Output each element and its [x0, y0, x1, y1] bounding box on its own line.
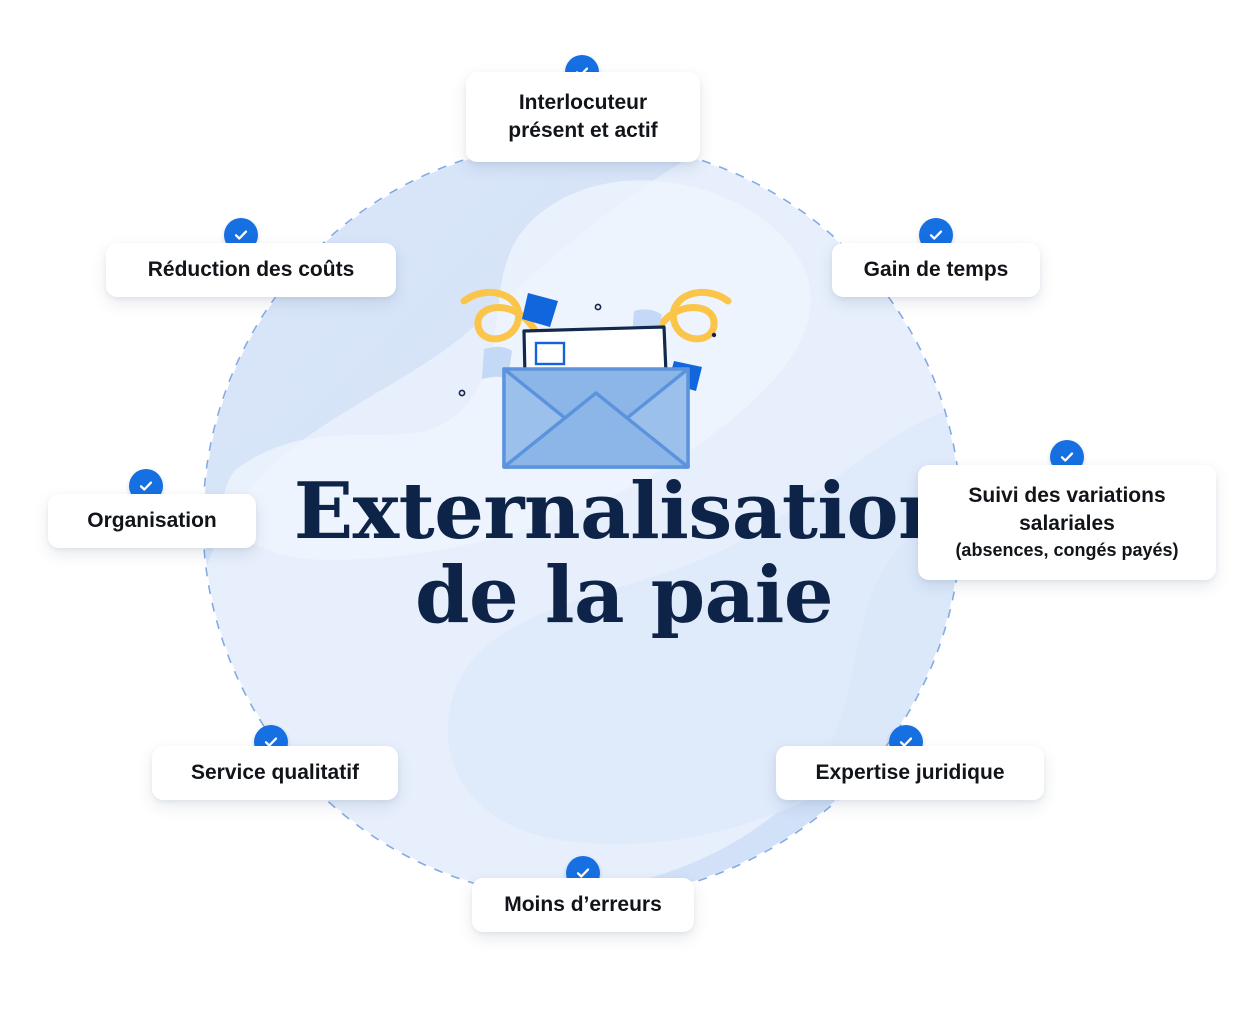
benefit-label-line: salariales	[1019, 510, 1115, 538]
infographic-canvas: Externalisation de la paie Interlocuteur…	[0, 0, 1248, 1022]
page-title: Externalisation de la paie	[224, 470, 1024, 638]
check-icon	[1058, 448, 1076, 466]
benefit-label-line: présent et actif	[508, 117, 657, 145]
benefit-chip-organisation[interactable]: Organisation	[48, 494, 256, 548]
check-icon	[232, 226, 250, 244]
check-icon	[137, 477, 155, 495]
benefit-label-line: Gain de temps	[864, 256, 1009, 284]
benefit-label-sub: (absences, congés payés)	[955, 538, 1178, 563]
benefit-chip-moins-erreurs[interactable]: Moins d’erreurs	[472, 878, 694, 932]
benefit-chip-suivi-variations[interactable]: Suivi des variations salariales (absence…	[918, 465, 1216, 580]
check-icon	[927, 226, 945, 244]
benefit-label-line: Suivi des variations	[968, 482, 1165, 510]
benefit-label-line: Service qualitatif	[191, 759, 359, 787]
benefit-chip-gain-de-temps[interactable]: Gain de temps	[832, 243, 1040, 297]
envelope	[504, 369, 688, 467]
benefit-label-line: Moins d’erreurs	[504, 891, 662, 919]
benefit-chip-expertise-juridique[interactable]: Expertise juridique	[776, 746, 1044, 800]
benefit-chip-service-qualitatif[interactable]: Service qualitatif	[152, 746, 398, 800]
benefit-chip-reduction[interactable]: Réduction des coûts	[106, 243, 396, 297]
confetti-dot-c	[459, 390, 464, 395]
benefit-label-line: Interlocuteur	[519, 89, 647, 117]
open-envelope-illustration	[446, 265, 746, 485]
confetti-dot-a	[595, 304, 600, 309]
benefit-label-line: Réduction des coûts	[148, 256, 355, 284]
confetti-dot-b	[712, 333, 716, 337]
benefit-label-line: Organisation	[87, 507, 217, 535]
benefit-label-line: Expertise juridique	[815, 759, 1004, 787]
benefit-chip-interlocuteur[interactable]: Interlocuteur présent et actif	[466, 72, 700, 162]
